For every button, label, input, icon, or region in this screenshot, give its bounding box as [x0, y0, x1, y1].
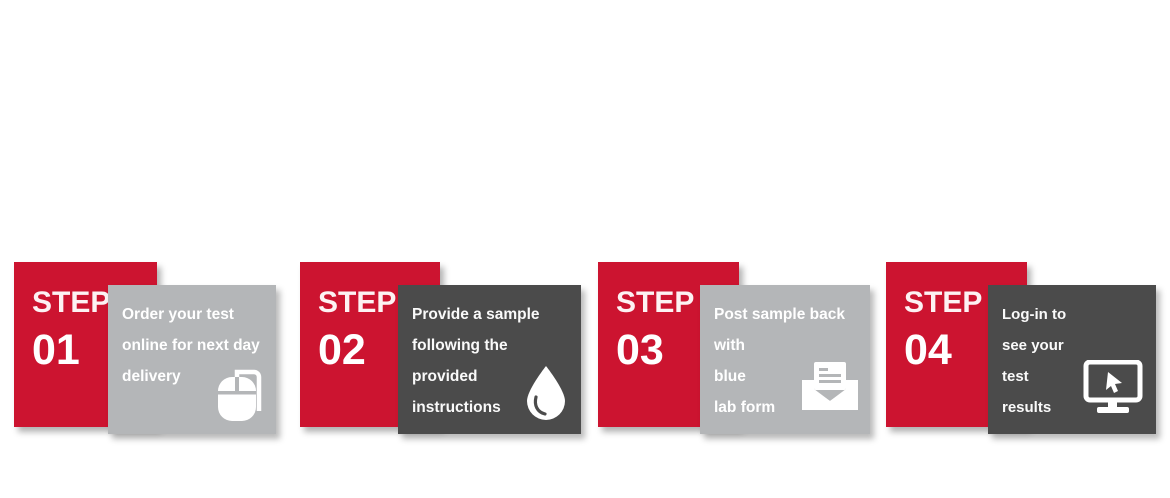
step-text-01: Order your test online for next day deli…: [122, 299, 266, 392]
step-panel-04: Log-in to see your test results: [988, 285, 1156, 434]
step-text-04: Log-in to see your test results: [1002, 299, 1146, 423]
step-card-03[interactable]: STEP 03 Post sample back with blue lab f…: [598, 262, 870, 434]
step-card-02[interactable]: STEP 02 Provide a sample following the p…: [300, 262, 581, 434]
step-panel-02: Provide a sample following the provided …: [398, 285, 581, 434]
step-card-04[interactable]: STEP 04 Log-in to see your test results: [886, 262, 1156, 434]
step-panel-03: Post sample back with blue lab form: [700, 285, 870, 434]
step-text-02: Provide a sample following the provided …: [412, 299, 571, 423]
step-card-01[interactable]: STEP 01 Order your test online for next …: [14, 262, 276, 434]
step-text-03: Post sample back with blue lab form: [714, 299, 860, 423]
steps-process-graphic: STEP 01 Order your test online for next …: [0, 0, 1170, 498]
step-panel-01: Order your test online for next day deli…: [108, 285, 276, 434]
